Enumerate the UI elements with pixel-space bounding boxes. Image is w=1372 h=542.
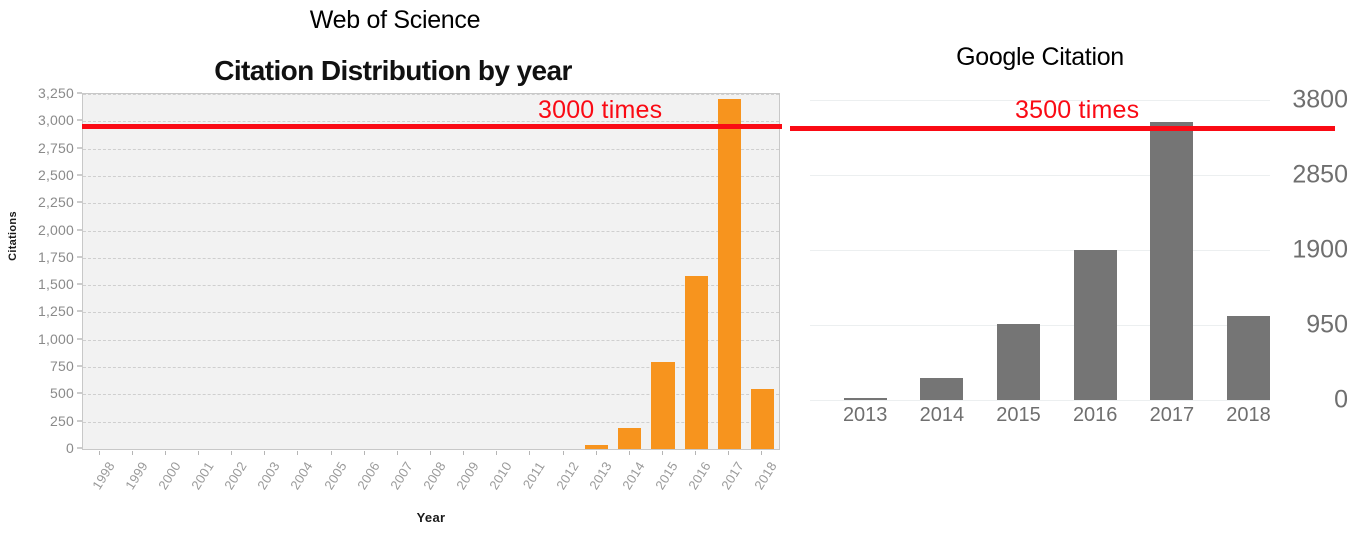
x-axis-tick-mark	[264, 451, 265, 455]
gridline	[810, 400, 1270, 401]
x-axis-tick-label: 2018	[746, 459, 780, 501]
gridline	[83, 121, 779, 122]
x-axis-tick-mark	[364, 451, 365, 455]
x-axis-tick-mark	[132, 451, 133, 455]
x-axis-tick-label: 2016	[680, 459, 714, 501]
threshold-label-3000: 3000 times	[538, 96, 662, 125]
x-axis-tick-label: 2012	[547, 459, 581, 501]
x-axis-tick-label: 2014	[614, 459, 648, 501]
y-axis-tick-label: 0	[1278, 386, 1348, 415]
x-axis-tick-mark	[99, 451, 100, 455]
x-axis-tick-mark	[430, 451, 431, 455]
bar-2014	[920, 378, 963, 400]
bar-2017	[1150, 122, 1193, 400]
web-of-science-panel: Web of Science Citation Distribution by …	[0, 0, 800, 542]
y-axis-tick-mark	[77, 338, 82, 339]
x-axis-tick-label: 2013	[833, 404, 897, 427]
bar-2015	[997, 324, 1040, 400]
bar-2015	[651, 362, 674, 449]
gridline	[83, 176, 779, 177]
x-axis-tick-mark	[761, 451, 762, 455]
x-axis-tick-mark	[463, 451, 464, 455]
citation-distribution-chart-title: Citation Distribution by year	[0, 55, 786, 87]
x-axis-tick-label: 2017	[713, 459, 747, 501]
y-axis-tick-mark	[77, 311, 82, 312]
x-axis-tick-label: 2013	[581, 459, 615, 501]
x-axis-tick-label: 2010	[481, 459, 515, 501]
gridline	[83, 340, 779, 341]
x-axis-tick-label: 2017	[1140, 404, 1204, 427]
x-axis-tick-mark	[297, 451, 298, 455]
x-axis-tick-label: 2014	[910, 404, 974, 427]
x-axis-tick-mark	[397, 451, 398, 455]
y-axis-tick-label: 3800	[1278, 86, 1348, 115]
y-axis-tick-mark	[77, 174, 82, 175]
y-axis-tick-mark	[77, 256, 82, 257]
threshold-line-3000	[82, 124, 782, 129]
y-axis-tick-mark	[77, 284, 82, 285]
x-axis-tick-label: 2008	[415, 459, 449, 501]
y-axis-tick-label: 1,750	[2, 249, 74, 265]
x-axis-tick-label: 2001	[183, 459, 217, 501]
gridline	[83, 312, 779, 313]
gridline	[83, 422, 779, 423]
gridline	[83, 149, 779, 150]
y-axis-tick-mark	[77, 229, 82, 230]
google-citation-source-title: Google Citation	[790, 43, 1290, 72]
y-axis-tick-label: 3,250	[2, 85, 74, 101]
y-axis-tick-label: 250	[2, 413, 74, 429]
y-axis-tick-label: 1900	[1278, 236, 1348, 265]
gridline	[83, 367, 779, 368]
y-axis-tick-label: 950	[1278, 311, 1348, 340]
x-axis-tick-label: 2011	[514, 459, 548, 501]
x-axis-tick-label: 2004	[282, 459, 316, 501]
bar-2016	[1074, 250, 1117, 400]
y-axis-tick-label: 2,000	[2, 222, 74, 238]
x-axis-tick-label: 2009	[448, 459, 482, 501]
y-axis-tick-label: 2,250	[2, 194, 74, 210]
x-axis-tick-label: 2003	[249, 459, 283, 501]
y-axis-tick-mark	[77, 448, 82, 449]
x-axis-tick-mark	[629, 451, 630, 455]
google-citation-panel: Google Citation 3500 times 0950190028503…	[790, 0, 1372, 542]
gridline	[810, 325, 1270, 326]
bar-2013	[844, 398, 887, 400]
x-axis-tick-label: 2002	[216, 459, 250, 501]
x-axis-tick-mark	[496, 451, 497, 455]
web-of-science-source-title: Web of Science	[0, 6, 790, 35]
web-of-science-plot-area	[82, 93, 780, 450]
threshold-label-3500: 3500 times	[1015, 96, 1139, 125]
x-axis-tick-label: 2007	[382, 459, 416, 501]
x-axis-tick-label: 2015	[987, 404, 1051, 427]
x-axis-tick-mark	[198, 451, 199, 455]
x-axis-tick-label: 1999	[117, 459, 151, 501]
x-axis-tick-mark	[662, 451, 663, 455]
x-axis-tick-mark	[596, 451, 597, 455]
y-axis-tick-label: 2,500	[2, 167, 74, 183]
y-axis-tick-label: 2,750	[2, 140, 74, 156]
gridline	[810, 250, 1270, 251]
y-axis-tick-mark	[77, 93, 82, 94]
y-axis-tick-mark	[77, 420, 82, 421]
y-axis-tick-label: 2850	[1278, 161, 1348, 190]
x-axis-tick-mark	[331, 451, 332, 455]
y-axis-tick-label: 500	[2, 385, 74, 401]
gridline	[83, 231, 779, 232]
y-axis-tick-label: 3,000	[2, 112, 74, 128]
y-axis-tick-mark	[77, 202, 82, 203]
x-axis-tick-mark	[165, 451, 166, 455]
google-citation-plot-area	[810, 100, 1270, 400]
x-axis-tick-label: 2005	[315, 459, 349, 501]
x-axis-tick-label: 2000	[150, 459, 184, 501]
x-axis-tick-label: 1998	[83, 459, 117, 501]
x-axis-tick-label: 2006	[349, 459, 383, 501]
x-axis-tick-mark	[563, 451, 564, 455]
bar-2016	[685, 276, 708, 449]
bar-2018	[1227, 316, 1270, 400]
gridline	[83, 258, 779, 259]
y-axis-tick-mark	[77, 366, 82, 367]
gridline	[83, 394, 779, 395]
y-axis-tick-label: 1,250	[2, 303, 74, 319]
gridline	[83, 94, 779, 95]
bar-2014	[618, 428, 641, 449]
x-axis-tick-mark	[529, 451, 530, 455]
x-axis-tick-mark	[231, 451, 232, 455]
y-axis-tick-label: 0	[2, 440, 74, 456]
y-axis-tick-label: 750	[2, 358, 74, 374]
x-axis-tick-label: 2018	[1217, 404, 1281, 427]
x-axis-tick-mark	[728, 451, 729, 455]
y-axis-tick-mark	[77, 393, 82, 394]
threshold-line-3500	[790, 126, 1335, 131]
y-axis-tick-mark	[77, 147, 82, 148]
x-axis-title-year: Year	[82, 510, 780, 525]
gridline	[83, 285, 779, 286]
x-axis-tick-label: 2015	[647, 459, 681, 501]
bar-2013	[585, 445, 608, 449]
x-axis-tick-label: 2016	[1063, 404, 1127, 427]
y-axis-tick-label: 1,500	[2, 276, 74, 292]
gridline	[810, 175, 1270, 176]
bar-2018	[751, 389, 774, 449]
y-axis-tick-mark	[77, 120, 82, 121]
x-axis-tick-mark	[695, 451, 696, 455]
gridline	[83, 203, 779, 204]
y-axis-tick-label: 1,000	[2, 331, 74, 347]
bar-2017	[718, 99, 741, 449]
